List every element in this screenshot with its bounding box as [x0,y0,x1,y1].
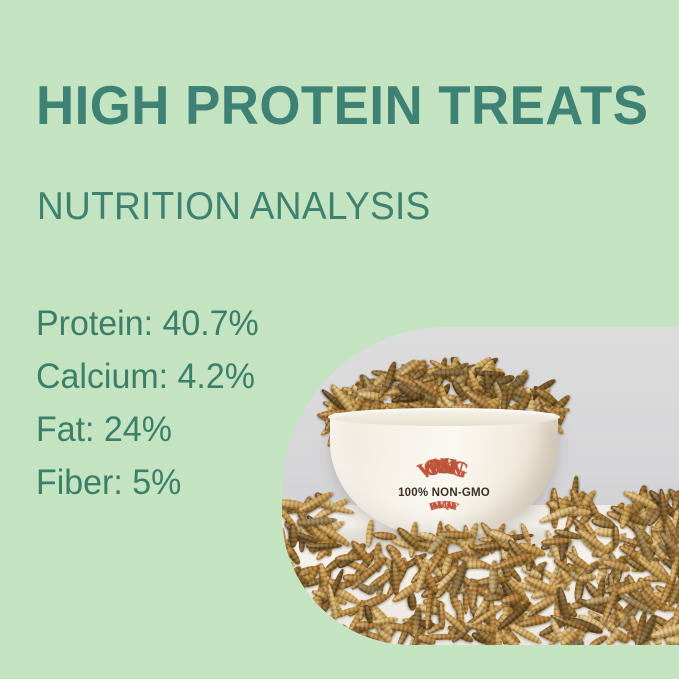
nutrition-row-calcium: Calcium: 4.2% [36,350,356,403]
product-infographic: HIGH PROTEIN TREATS NUTRITION ANALYSIS P… [0,0,679,679]
nutrition-value-protein: 40.7% [162,304,258,343]
nutrition-label-fat: Fat: [36,410,94,449]
nutrition-value-calcium: 4.2% [177,357,254,396]
nutrition-label-protein: Protein: [36,304,153,343]
nutrition-row-fiber: Fiber: 5% [36,456,356,509]
nutrition-analysis-list: Protein: 40.7% Calcium: 4.2% Fat: 24% Fi… [36,297,366,509]
nutrition-row-protein: Protein: 40.7% [36,297,356,350]
nutrition-value-fiber: 5% [132,463,181,502]
nutrition-label-fiber: Fiber: [36,463,123,502]
page-title: HIGH PROTEIN TREATS [36,76,641,134]
nutrition-label-calcium: Calcium: [36,357,168,396]
nutrition-value-fat: 24% [104,410,172,449]
nutrition-row-fat: Fat: 24% [36,403,356,456]
section-subtitle: NUTRITION ANALYSIS [37,185,431,229]
